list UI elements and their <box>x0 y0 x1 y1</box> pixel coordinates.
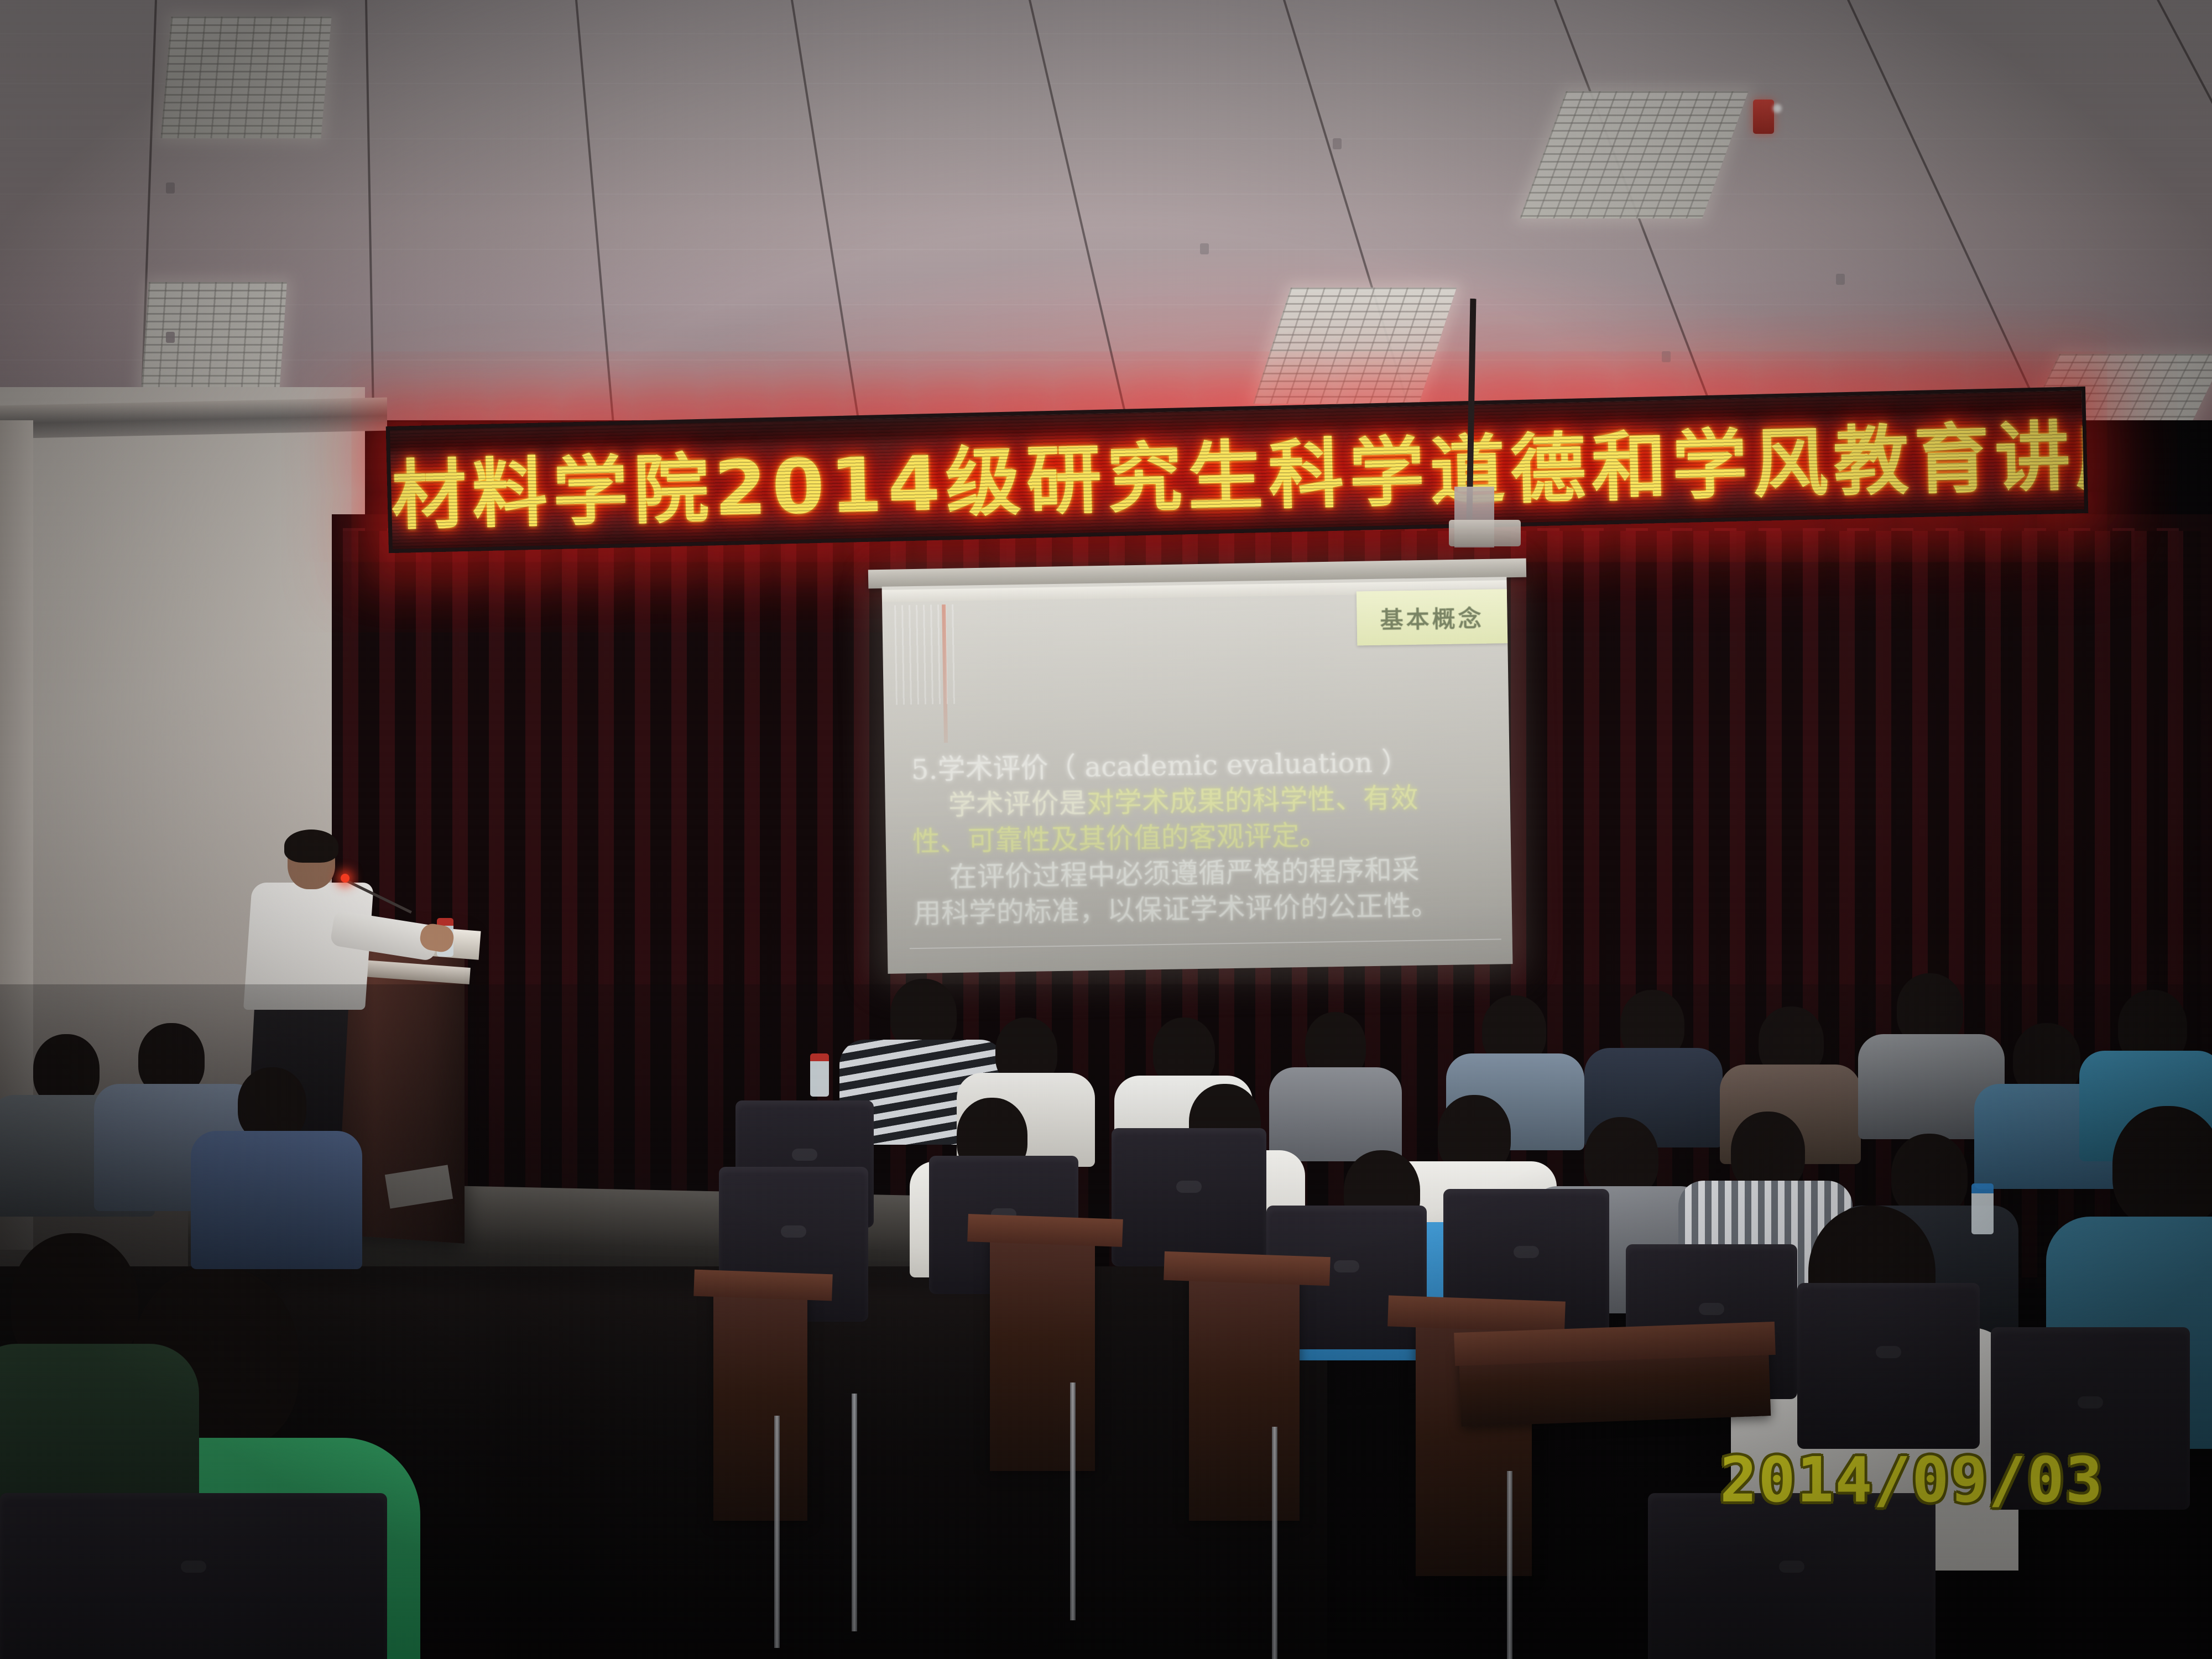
fire-alarm-icon <box>1753 100 1774 134</box>
ceiling <box>0 0 2212 420</box>
slide-body-line-1b: 对学术成果的科学性、有效 <box>1086 782 1418 819</box>
ceiling-light-panel <box>160 17 331 138</box>
slide-body-line-1a: 学术评价是 <box>948 787 1087 821</box>
desk-leg <box>1507 1471 1512 1659</box>
audience-desk-top <box>1387 1295 1566 1332</box>
ceiling-light-panel <box>141 282 287 393</box>
smoke-detector-icon <box>166 332 175 343</box>
audience-head <box>238 1067 306 1141</box>
smoke-detector-icon <box>1333 138 1342 149</box>
speaker-hair <box>284 830 338 863</box>
projection-screen: 基本概念 5.学术评价（ academic evaluation ） 学术评价是… <box>882 577 1513 974</box>
microphone-indicator-light <box>341 874 349 883</box>
water-bottle-icon <box>1971 1183 1994 1234</box>
desk-leg <box>1070 1383 1076 1620</box>
audience-desk <box>1189 1272 1300 1521</box>
audience-desk <box>713 1288 807 1521</box>
auditorium-seat <box>1797 1283 1980 1449</box>
desk-leg <box>774 1416 780 1648</box>
camera-date-stamp: 2014/09/03 <box>1720 1444 2104 1516</box>
smoke-detector-icon <box>1836 274 1845 285</box>
smoke-detector-icon <box>1200 243 1209 254</box>
water-bottle-icon <box>810 1053 829 1097</box>
ceiling-red-glow <box>0 0 2212 420</box>
audience-head <box>1891 1134 1968 1217</box>
auditorium-seat <box>0 1493 387 1659</box>
lecture-hall-photo: 材料学院2014级研究生科学道德和学风教育讲座 基本概念 5.学术评价（ aca… <box>0 0 2212 1659</box>
audience-desk-top <box>693 1270 833 1301</box>
desk-leg <box>852 1394 857 1631</box>
smoke-detector-icon <box>166 182 175 194</box>
audience-torso <box>1269 1067 1402 1161</box>
slide-section-badge-label: 基本概念 <box>1380 599 1484 635</box>
auditorium-seat <box>1648 1493 1936 1659</box>
slide-section-badge: 基本概念 <box>1357 589 1508 645</box>
slide-left-ruler <box>894 604 957 705</box>
audience-head <box>2112 1106 2212 1228</box>
smoke-detector-icon <box>1662 351 1671 362</box>
desk-leg <box>1272 1427 1277 1659</box>
audience-desk-top <box>967 1214 1123 1247</box>
projector-icon <box>1449 520 1521 546</box>
audience-desk-top <box>1164 1251 1331 1286</box>
audience-desk <box>990 1233 1095 1471</box>
slide-text-block: 5.学术评价（ academic evaluation ） 学术评价是对学术成果… <box>911 743 1490 932</box>
auditorium-seat <box>1112 1128 1266 1266</box>
slide-bottom-rule <box>910 938 1501 949</box>
audience-torso <box>191 1131 362 1269</box>
